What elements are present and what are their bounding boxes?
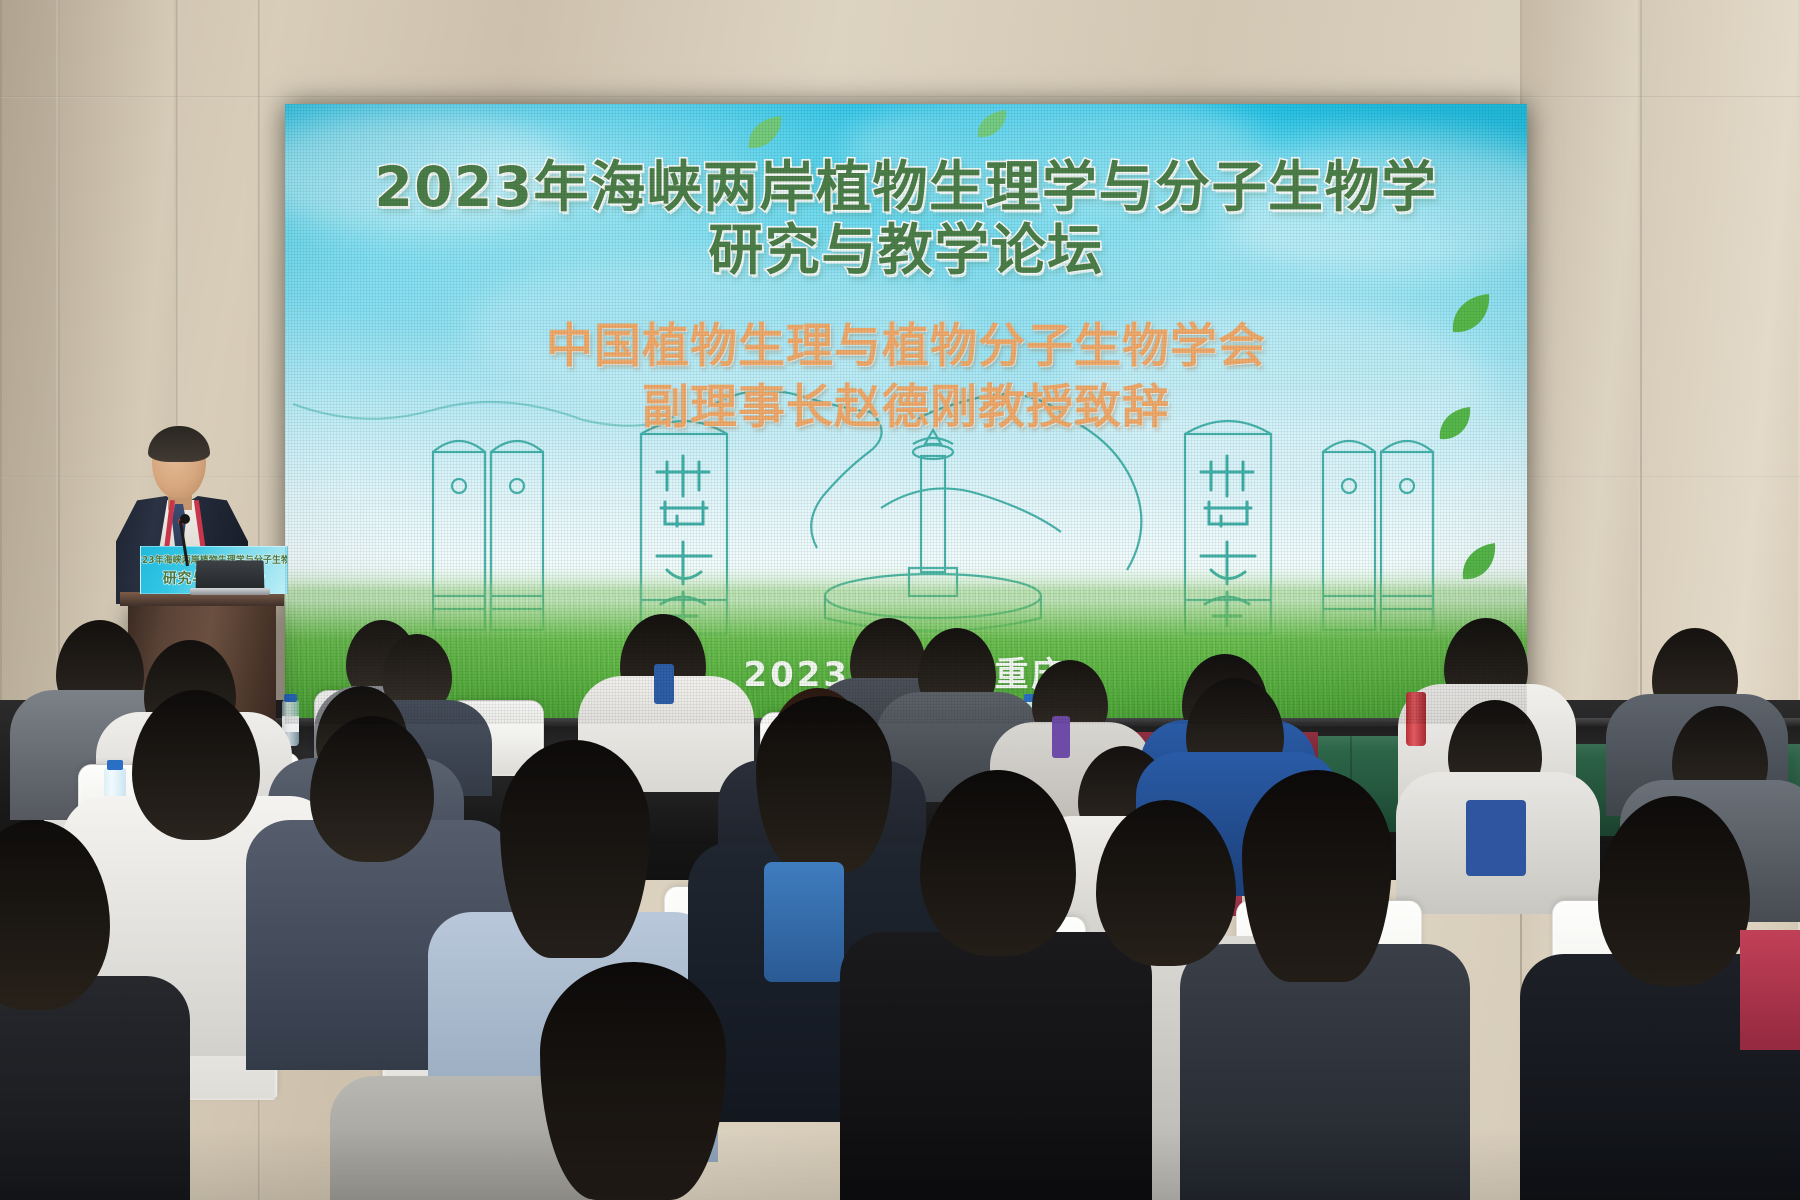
- audience-lanyard: [1052, 716, 1070, 758]
- leaf-icon: [745, 114, 785, 154]
- podium-laptop: [196, 560, 265, 590]
- audience-head: [500, 740, 650, 958]
- bottle-label: [282, 716, 299, 732]
- screen-subtitle-block: 中国植物生理与植物分子生物学会 副理事长赵德刚教授致辞: [285, 316, 1527, 438]
- bottle-cap: [107, 760, 123, 770]
- wall-horizontal-line: [0, 96, 1800, 98]
- screen-subtitle-line1: 中国植物生理与植物分子生物学会: [285, 316, 1527, 377]
- screen-title-block: 2023年海峡两岸植物生理学与分子生物学 研究与教学论坛: [285, 156, 1527, 281]
- screen-subtitle-line2: 副理事长赵德刚教授致辞: [285, 377, 1527, 438]
- audience-head: [540, 962, 726, 1200]
- audience-lanyard: [654, 664, 674, 704]
- podium-laptop-base: [190, 588, 270, 595]
- screen-title-line1: 2023年海峡两岸植物生理学与分子生物学: [285, 156, 1527, 219]
- red-cup: [1406, 692, 1426, 746]
- audience-scarf: [1740, 930, 1800, 1050]
- audience-lanyard: [1466, 800, 1526, 876]
- audience-shirt-accent: [764, 862, 844, 982]
- bottle-cap: [284, 694, 297, 702]
- audience-body: [1180, 944, 1470, 1200]
- leaf-icon: [975, 108, 1009, 142]
- photo-canvas: 2023年海峡两岸植物生理学与分子生物学 研究与教学论坛 中国植物生理与植物分子…: [0, 0, 1800, 1200]
- audience-head: [1242, 770, 1392, 982]
- audience-head: [756, 696, 892, 872]
- screen-title-line2: 研究与教学论坛: [285, 219, 1527, 282]
- audience-body: [840, 932, 1152, 1200]
